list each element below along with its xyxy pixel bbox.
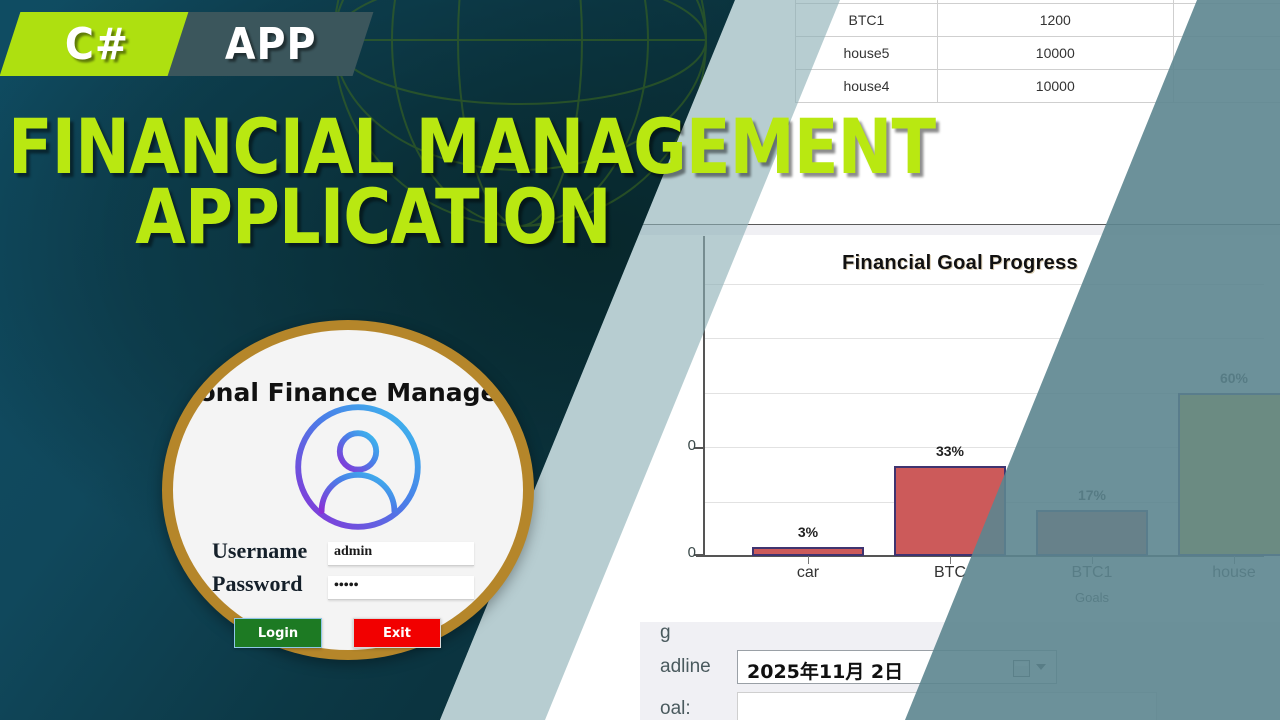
x-tick: [1092, 556, 1093, 564]
x-label-house: house: [1178, 564, 1280, 582]
cell-name: BTC1: [796, 4, 938, 37]
deadline-date-picker[interactable]: 2025年11月 2日: [737, 650, 1057, 684]
chevron-down-icon[interactable]: [1036, 664, 1046, 670]
bar-label-btc: 33%: [894, 443, 1006, 459]
goal-input-field[interactable]: [737, 692, 1157, 720]
cell-empty: [1173, 70, 1280, 103]
page-title: FINANCIAL MANAGEMENT APPLICATION: [8, 112, 738, 252]
calendar-icon[interactable]: [1013, 660, 1030, 677]
bar-car[interactable]: [752, 547, 864, 556]
goals-table[interactable]: BTC 1200 BTC1 1200 house5 10000: [795, 0, 1280, 103]
headline-line-2: APPLICATION: [59, 182, 687, 252]
x-axis-title: Goals: [1036, 590, 1148, 605]
cell-name: house4: [796, 70, 938, 103]
bar-house[interactable]: [1178, 393, 1280, 556]
badge-app: APP: [168, 12, 374, 76]
bar-btc1[interactable]: [1036, 510, 1148, 556]
exit-button[interactable]: Exit: [353, 618, 441, 648]
cell-value: 1200: [937, 4, 1173, 37]
form-top-strip: [640, 608, 1280, 622]
form-label-goal: oal:: [660, 698, 691, 720]
x-tick: [808, 556, 809, 564]
cell-empty: [1173, 37, 1280, 70]
badge-app-label: APP: [225, 19, 317, 70]
cell-empty: [1173, 4, 1280, 37]
thumbnail-canvas: BTC 1200 BTC1 1200 house5 10000: [0, 0, 1280, 720]
login-button[interactable]: Login: [234, 618, 322, 648]
table-row[interactable]: house5 10000: [796, 37, 1280, 70]
table-row[interactable]: house4 10000: [796, 70, 1280, 103]
chart-plot-area: 0 0 3% 33% 17% 60% car BTC: [704, 284, 1264, 556]
form-label-partial-top: g: [660, 622, 671, 644]
chart-title: Financial Goal Progress: [640, 252, 1280, 275]
x-tick: [950, 556, 951, 564]
gridline: [704, 284, 1264, 285]
user-avatar-icon: [293, 402, 423, 532]
chart-panel: Financial Goal Progress 0 0: [640, 236, 1280, 608]
gridline: [704, 338, 1264, 339]
password-label: Password: [212, 571, 302, 597]
cell-value: 10000: [937, 37, 1173, 70]
x-label-car: car: [752, 564, 864, 582]
login-dialog: onal Finance Manage: [173, 330, 523, 650]
badge-csharp-label: C#: [65, 19, 129, 70]
x-label-btc: BTC: [894, 564, 1006, 582]
deadline-date-value: 2025年11月 2日: [747, 657, 903, 684]
y-tick-label: 0: [670, 544, 696, 561]
goal-form-panel: g adline oal: 2025年11月 2日: [640, 608, 1280, 720]
username-label: Username: [212, 538, 307, 564]
x-tick: [1234, 556, 1235, 564]
bar-btc[interactable]: [894, 466, 1006, 556]
login-circle-frame: onal Finance Manage: [162, 320, 534, 660]
cell-value: 10000: [937, 70, 1173, 103]
badge-csharp: C#: [0, 12, 195, 76]
password-input[interactable]: •••••: [328, 576, 474, 600]
bar-label-car: 3%: [752, 524, 864, 540]
x-label-btc1: BTC1: [1036, 564, 1148, 582]
cell-name: house5: [796, 37, 938, 70]
form-label-deadline: adline: [660, 656, 711, 678]
bar-label-house: 60%: [1178, 370, 1280, 386]
y-axis: [703, 236, 705, 556]
y-tick-label: 0: [670, 437, 696, 454]
table-row[interactable]: BTC1 1200: [796, 4, 1280, 37]
bar-label-btc1: 17%: [1036, 487, 1148, 503]
username-input[interactable]: admin: [328, 542, 474, 566]
